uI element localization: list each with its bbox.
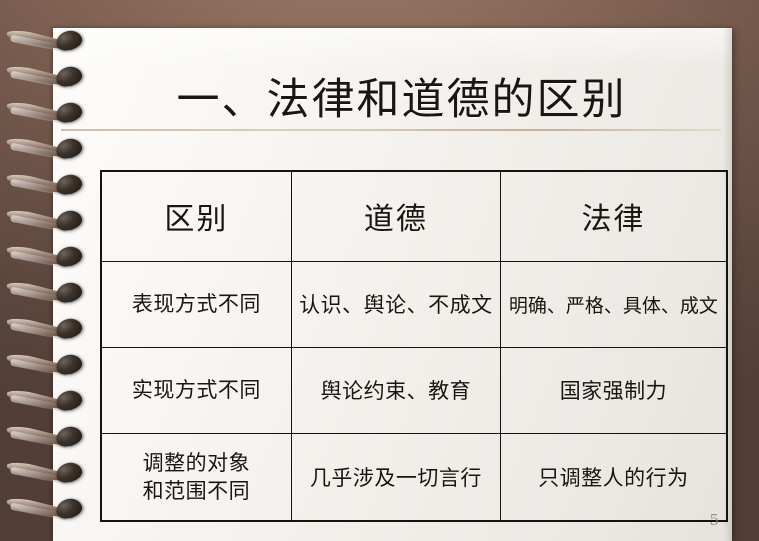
row-label-line-1: 调整的对象 [106, 449, 287, 477]
row-label-line-2: 和范围不同 [106, 477, 287, 505]
table-row: 调整的对象 和范围不同 几乎涉及一切言行 只调整人的行为 [101, 433, 727, 521]
page-title: 一、法律和道德的区别 [53, 78, 732, 123]
cell-law-expression-mode: 明确、严格、具体、成文 [500, 261, 727, 347]
cell-law-scope-of-regulation: 只调整人的行为 [500, 433, 727, 521]
law-vs-morality-table: 区别 道德 法律 表现方式不同 认识、舆论、不成文 明确、严格、具体、成文 实现… [100, 170, 728, 522]
title-divider-rule [61, 129, 721, 131]
column-header-aspect: 区别 [101, 171, 291, 261]
comparison-table-container: 区别 道德 法律 表现方式不同 认识、舆论、不成文 明确、严格、具体、成文 实现… [100, 170, 728, 520]
cell-morality-expression-mode: 认识、舆论、不成文 [291, 261, 500, 347]
page-number: 5 [709, 511, 719, 529]
table-row: 表现方式不同 认识、舆论、不成文 明确、严格、具体、成文 [101, 261, 727, 347]
cell-morality-scope-of-regulation: 几乎涉及一切言行 [291, 433, 500, 521]
row-label-scope-of-regulation: 调整的对象 和范围不同 [101, 433, 291, 521]
table-row: 实现方式不同 舆论约束、教育 国家强制力 [101, 347, 727, 433]
column-header-morality: 道德 [291, 171, 500, 261]
table-header-row: 区别 道德 法律 [101, 171, 727, 261]
row-label-expression-mode: 表现方式不同 [101, 261, 291, 347]
cell-morality-realization-mode: 舆论约束、教育 [291, 347, 500, 433]
cell-law-realization-mode: 国家强制力 [500, 347, 727, 433]
paper-sheen [53, 28, 732, 68]
slide-paper: 一、法律和道德的区别 区别 道德 法律 表现方式不同 认识、舆论、不成文 明确、… [53, 28, 732, 541]
row-label-realization-mode: 实现方式不同 [101, 347, 291, 433]
column-header-law: 法律 [500, 171, 727, 261]
